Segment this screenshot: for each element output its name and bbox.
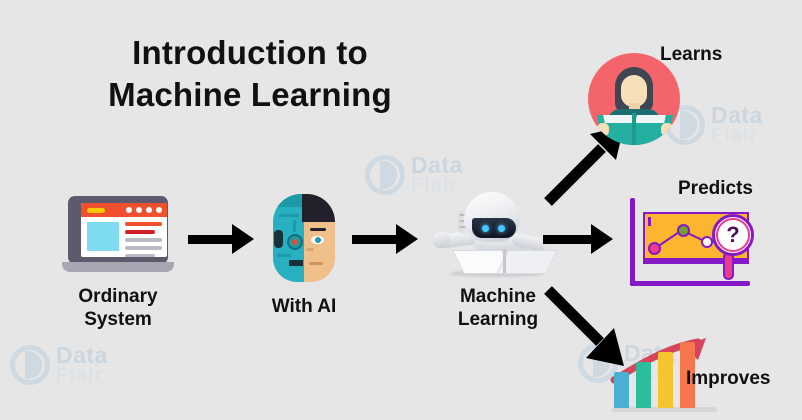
label-line1: Ordinary	[48, 286, 188, 309]
chart-point-2	[677, 224, 690, 237]
laptop-lid	[68, 196, 168, 264]
robot-reading-icon	[432, 192, 550, 282]
question-mark-icon: ?	[716, 219, 750, 253]
dataflair-logo-icon	[10, 345, 50, 385]
robot-eye-right	[498, 225, 505, 232]
dataflair-logo-icon	[365, 155, 405, 195]
reader-page-left	[603, 115, 634, 123]
laptop-screen	[81, 203, 167, 257]
human-pupil	[315, 237, 321, 243]
watermark-data-text: Data	[711, 105, 763, 127]
robot-visor	[472, 218, 516, 238]
bar-2	[636, 362, 651, 408]
robot-ear	[274, 230, 283, 248]
reader-hand-left	[597, 123, 609, 136]
browser-titlebar	[81, 203, 167, 217]
page-title-line2: Machine Learning	[70, 74, 430, 116]
bar-3	[658, 352, 673, 408]
page-title-line1: Introduction to	[70, 32, 430, 74]
human-eyebrow	[310, 228, 326, 231]
circuit-vent	[289, 260, 303, 266]
watermark-flair-text: Flair	[711, 127, 763, 145]
outcome-label-improves: Improves	[686, 368, 802, 391]
arrow-3	[543, 224, 617, 254]
node-label-ordinary-system: Ordinary System	[48, 286, 188, 332]
circuit-trace	[279, 214, 299, 217]
node-label-with-ai: With AI	[244, 296, 364, 319]
watermark-center: Data Flair	[365, 155, 463, 195]
arrow-1	[188, 224, 256, 254]
robot-eye-core	[292, 239, 298, 245]
reader-hand-right	[661, 123, 673, 136]
book-spine	[503, 249, 506, 273]
ai-face-head	[273, 194, 335, 282]
screen-text-lines	[125, 222, 162, 257]
label-line2: System	[48, 309, 188, 332]
watermark-data-text: Data	[411, 155, 463, 177]
circuit-trace	[293, 220, 296, 232]
titlebar-dots-icon	[126, 207, 162, 213]
line-chart-magnifier-icon: ?	[630, 198, 758, 286]
laptop-base	[62, 262, 174, 272]
watermark-left: Data Flair	[10, 345, 108, 385]
infographic-canvas: Data Flair Data Flair Data Flair Data Fl…	[0, 0, 802, 420]
chart-y-axis	[630, 198, 635, 286]
arrow-2	[352, 224, 420, 254]
human-nose	[306, 248, 314, 251]
laptop-icon	[62, 196, 174, 280]
reader-book-spine	[632, 113, 636, 145]
chart-tick	[648, 217, 651, 226]
watermark-data-text: Data	[56, 345, 108, 367]
robot-top-plate	[273, 194, 304, 207]
magnifier-handle	[723, 252, 734, 280]
circuit-trace	[277, 254, 291, 257]
reader-circle-bg	[588, 53, 680, 145]
watermark-flair-text: Flair	[56, 367, 108, 385]
page-title: Introduction to Machine Learning	[70, 32, 430, 116]
bar-1	[614, 372, 629, 408]
chart-x-axis	[630, 281, 750, 286]
robot-eye-left	[482, 225, 489, 232]
human-mouth	[309, 262, 323, 265]
chart-point-1	[648, 242, 661, 255]
label-line1: With AI	[244, 296, 364, 319]
woman-reading-icon	[588, 53, 680, 145]
outcome-label-predicts: Predicts	[678, 178, 798, 201]
titlebar-pill-icon	[87, 208, 105, 213]
screen-image-block	[87, 222, 119, 251]
outcome-label-learns: Learns	[660, 44, 790, 67]
ai-face-icon	[273, 194, 335, 282]
reader-page-right	[635, 115, 666, 123]
